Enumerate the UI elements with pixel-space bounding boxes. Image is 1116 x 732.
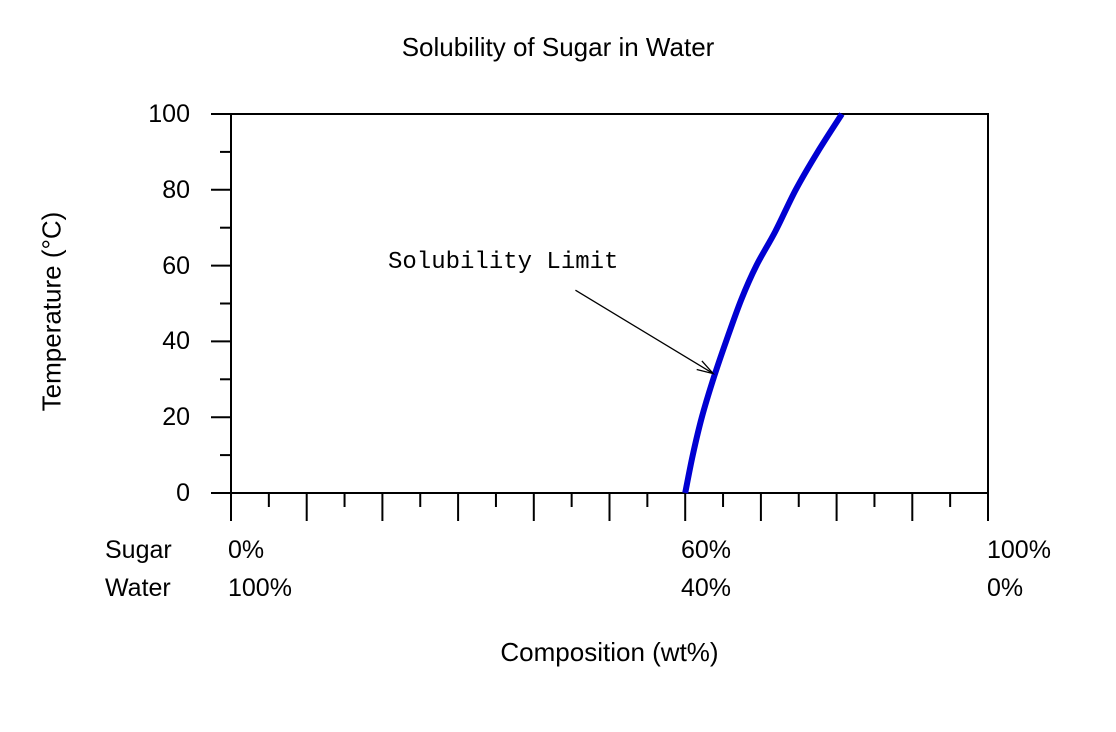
y-axis-ticks	[211, 114, 231, 493]
plot-frame	[231, 114, 988, 493]
x-axis-ticks	[231, 493, 988, 521]
annotation-arrow-head	[697, 361, 714, 374]
annotation-arrow	[575, 290, 713, 373]
solubility-limit-curve	[685, 114, 842, 493]
series-line-solubility-limit	[685, 114, 842, 493]
annotation-arrow-shaft	[575, 290, 713, 373]
plot-area-svg	[0, 0, 1116, 732]
chart-figure: Solubility of Sugar in Water Temperature…	[0, 0, 1116, 732]
